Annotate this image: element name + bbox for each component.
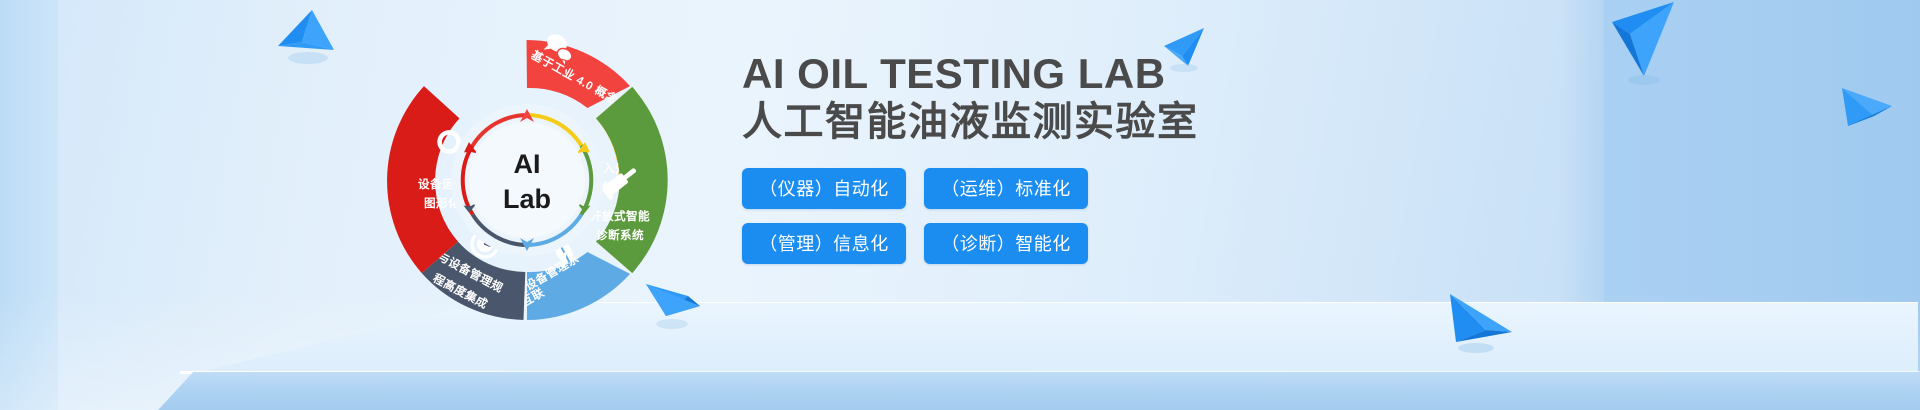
donut-center-label-line2: Lab bbox=[503, 184, 551, 214]
banner-root: 基于工业 4.0 概念 嵌入先进设备 管理理念 bbox=[0, 0, 1920, 410]
pedestal-front-face bbox=[158, 372, 1920, 410]
feature-tag-diagnosis-intelligence[interactable]: （诊断）智能化 bbox=[924, 223, 1088, 264]
feature-tag-list: （仪器）自动化 （运维）标准化 （管理）信息化 （诊断）智能化 bbox=[742, 168, 1092, 264]
feature-tag-management-informatization[interactable]: （管理）信息化 bbox=[742, 223, 906, 264]
triangle-bottom-right bbox=[1446, 290, 1516, 356]
feature-tag-ops-standardization[interactable]: （运维）标准化 bbox=[924, 168, 1088, 209]
headline-block: AI OIL TESTING LAB 人工智能油液监测实验室 （仪器）自动化 （… bbox=[742, 52, 1562, 264]
donut-slice-label-open-diagnosis-line1: 开放式智能 bbox=[590, 209, 650, 223]
capability-donut-chart: 基于工业 4.0 概念 嵌入先进设备 管理理念 bbox=[352, 5, 702, 355]
donut-slice-label-open-diagnosis-line2: 诊断系统 bbox=[596, 228, 644, 242]
donut-center-hub bbox=[469, 122, 585, 238]
triangle-top-left bbox=[268, 8, 336, 68]
triangle-right-upper bbox=[1840, 86, 1896, 138]
donut-center-label-line1: AI bbox=[514, 149, 541, 179]
donut-slice-industry40[interactable]: 基于工业 4.0 概念 bbox=[527, 31, 631, 108]
title-english: AI OIL TESTING LAB bbox=[742, 52, 1562, 97]
triangle-top-right bbox=[1604, 0, 1682, 86]
feature-tag-instrument-automation[interactable]: （仪器）自动化 bbox=[742, 168, 906, 209]
title-chinese: 人工智能油液监测实验室 bbox=[742, 99, 1562, 146]
